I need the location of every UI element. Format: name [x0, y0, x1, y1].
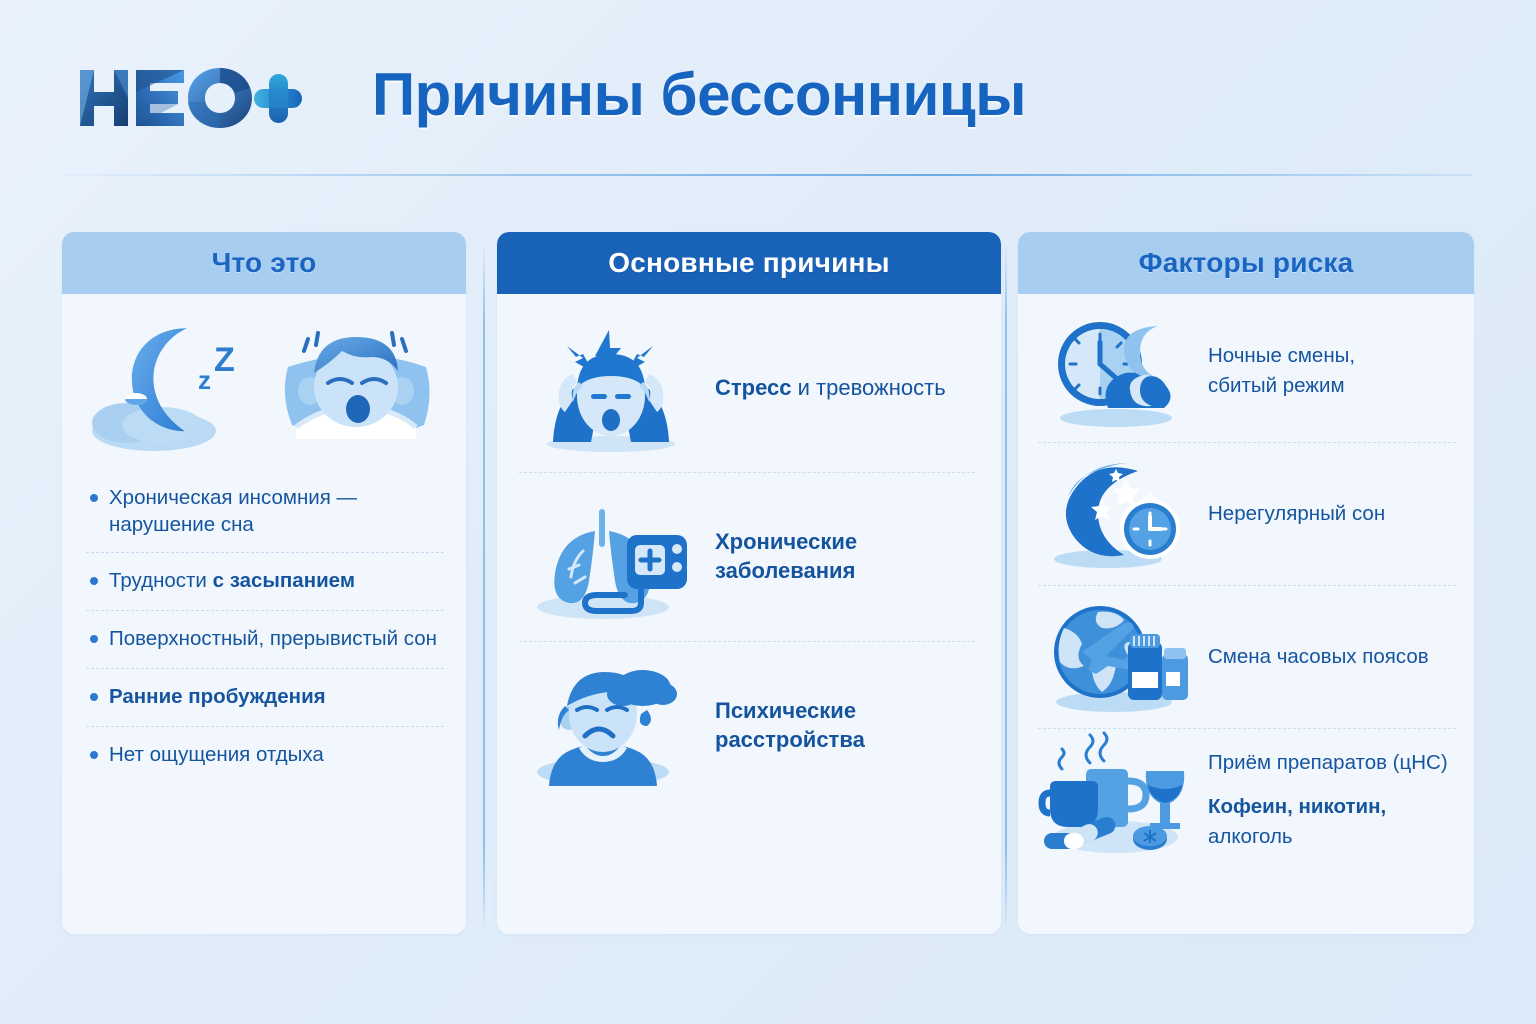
- list-item-line-1: Смена часовых поясов: [1208, 642, 1429, 672]
- list-item-label: Хроническая инсомния — нарушение сна: [109, 484, 442, 538]
- list-item-label: Ночные смены, сбитый режим: [1208, 341, 1355, 400]
- bullet-dot-icon: [90, 577, 98, 585]
- list-item: Нет ощущения отдыха: [86, 727, 444, 785]
- bullet-dot-icon: [90, 693, 98, 701]
- panel-what-body: z Z: [62, 294, 466, 934]
- list-item: Нерегулярный сон: [1038, 443, 1456, 586]
- list-item-label: Хронические заболевания: [715, 528, 975, 585]
- bullet-dot-icon: [90, 635, 98, 643]
- list-item-label-emphasis: Хронические заболевания: [715, 529, 857, 583]
- list-item-label-emphasis: с засыпанием: [213, 569, 355, 592]
- page-header: Причины бессонницы: [0, 0, 1536, 176]
- list-item-line-2-emphasis: Кофеин, никотин,: [1208, 795, 1386, 818]
- list-item-line-1: Ночные смены,: [1208, 341, 1355, 371]
- panel-main-causes: Основные причины: [497, 232, 1001, 934]
- panel-risks-body: Ночные смены, сбитый режим: [1018, 294, 1474, 934]
- what-is-it-illustration: z Z: [62, 294, 466, 462]
- list-item-label: Поверхностный, прерывистый сон: [109, 625, 437, 652]
- crescent-moon-stars-clock-icon: [1042, 455, 1194, 573]
- panel-risk-factors: Факторы риска: [1018, 232, 1474, 934]
- causes-list: Стресс и тревожность: [497, 294, 1001, 810]
- panel-what-header: Что это: [62, 232, 466, 294]
- list-item-label: Психические расстройства: [715, 697, 975, 754]
- list-item: Ночные смены, сбитый режим: [1038, 300, 1456, 443]
- list-item-line-1: Нерегулярный сон: [1208, 499, 1385, 529]
- svg-text:z: z: [198, 365, 211, 395]
- bullet-dot-icon: [90, 751, 98, 759]
- panel-causes-title: Основные причины: [608, 247, 889, 279]
- list-item: Трудности с засыпанием: [86, 553, 444, 611]
- column-divider-2: [1005, 242, 1007, 932]
- list-item-line-3: алкоголь: [1208, 822, 1448, 852]
- bullet-dot-icon: [90, 494, 98, 502]
- list-item-label: Трудности с засыпанием: [109, 567, 355, 594]
- coffee-wine-pills-icon: [1042, 741, 1194, 859]
- list-item: Хронические заболевания: [519, 473, 975, 642]
- list-item-line-2: Кофеин, никотин,: [1208, 792, 1448, 822]
- yawning-person-on-pillow-icon: [272, 307, 440, 457]
- svg-text:Z: Z: [214, 341, 235, 379]
- panel-causes-header: Основные причины: [497, 232, 1001, 294]
- panel-causes-body: Стресс и тревожность: [497, 294, 1001, 934]
- list-item-line-1: Приём препаратов (цНС): [1208, 748, 1448, 778]
- list-item-label: Нет ощущения отдыха: [109, 741, 324, 768]
- list-item-label: Приём препаратов (цНС) Кофеин, никотин, …: [1208, 748, 1448, 851]
- globe-airplane-pills-icon: [1042, 598, 1194, 716]
- list-item-label: Стресс и тревожность: [715, 374, 946, 403]
- list-item: Смена часовых поясов: [1038, 586, 1456, 729]
- list-item-line-2: сбитый режим: [1208, 371, 1355, 401]
- list-item-label: Ранние пробуждения: [109, 683, 326, 710]
- list-item-label-emphasis: Психические расстройства: [715, 698, 865, 752]
- column-divider-1: [483, 242, 485, 932]
- list-item: Стресс и тревожность: [519, 304, 975, 473]
- list-item: Психические расстройства: [519, 642, 975, 810]
- sleeping-moon-zzz-icon: z Z: [88, 307, 258, 457]
- list-item-label-emphasis: Стресс: [715, 375, 792, 400]
- list-item: Хроническая инсомния — нарушение сна: [86, 470, 444, 553]
- panel-what-title: Что это: [212, 247, 317, 279]
- panel-what-is-it: Что это z Z: [62, 232, 466, 934]
- list-item: Приём препаратов (цНС) Кофеин, никотин, …: [1038, 729, 1456, 871]
- what-is-it-bullet-list: Хроническая инсомния — нарушение сна Тру…: [62, 462, 466, 785]
- list-item-label-prefix: Трудности: [109, 569, 213, 592]
- sad-person-raincloud-icon: [523, 660, 699, 792]
- columns-container: Что это z Z: [0, 232, 1536, 942]
- stressed-head-lightning-icon: [523, 322, 699, 454]
- list-item-label: Смена часовых поясов: [1208, 642, 1429, 672]
- panel-risks-title: Факторы риска: [1139, 247, 1354, 279]
- header-divider: [64, 174, 1472, 176]
- panel-risks-header: Факторы риска: [1018, 232, 1474, 294]
- lungs-blood-pressure-monitor-icon: [523, 491, 699, 623]
- list-item-label-rest: и тревожность: [792, 375, 946, 400]
- risks-list: Ночные смены, сбитый режим: [1018, 294, 1474, 871]
- page-title: Причины бессонницы: [372, 60, 1026, 129]
- list-item: Ранние пробуждения: [86, 669, 444, 727]
- list-item-label: Нерегулярный сон: [1208, 499, 1385, 529]
- clock-moon-night-shift-icon: [1042, 312, 1194, 430]
- list-item: Поверхностный, прерывистый сон: [86, 611, 444, 669]
- brand-logo: [74, 62, 304, 134]
